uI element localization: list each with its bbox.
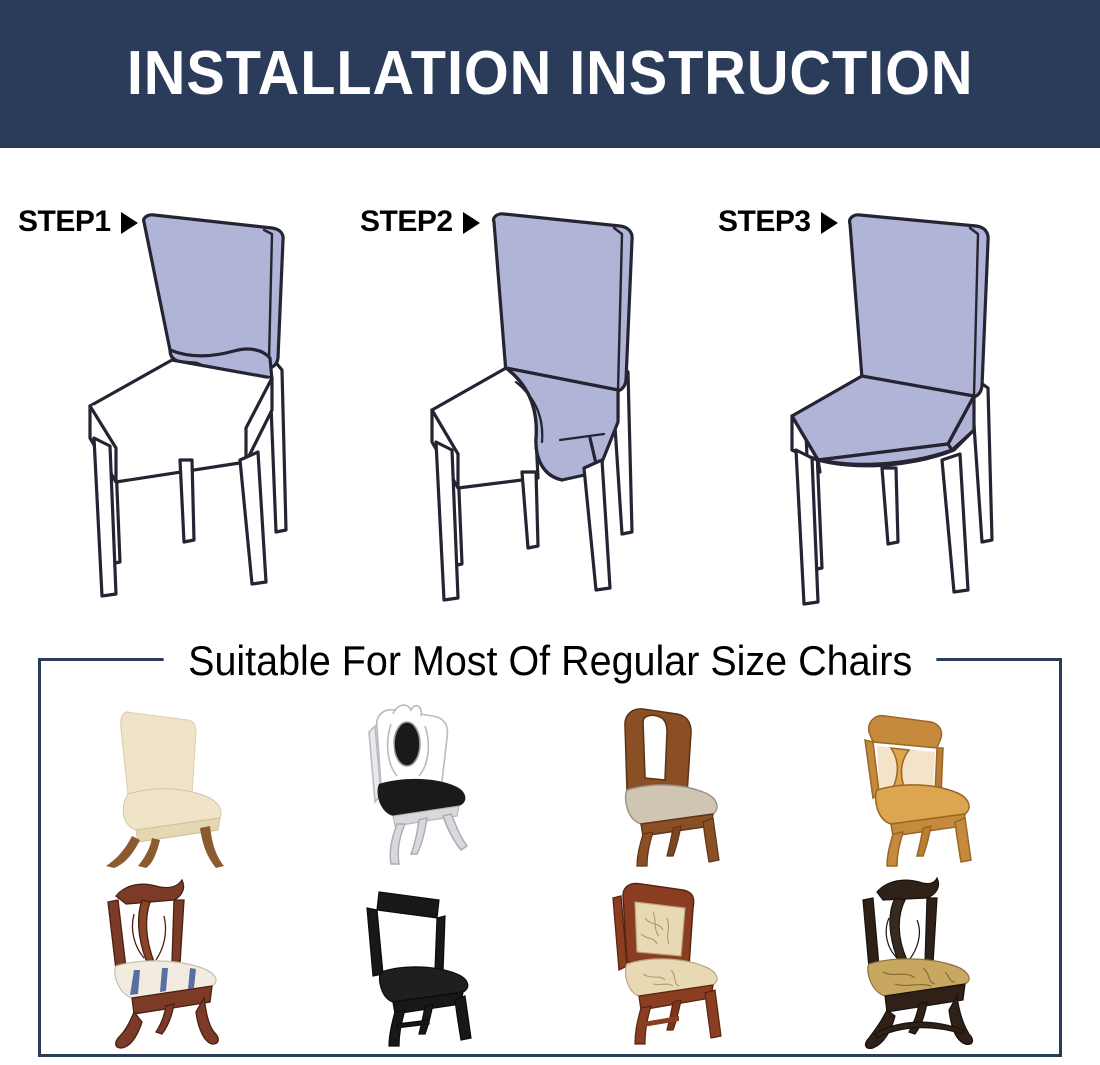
chair-photo-floral-upholstered-wood-chair (550, 870, 801, 1050)
chair-photo-honey-oak-splat-chair (801, 690, 1052, 870)
chair-photo-cream-upholstered-chair (48, 690, 299, 870)
page-title: INSTALLATION INSTRUCTION (127, 43, 974, 105)
step-2-chair-illustration (418, 210, 670, 615)
chair-photo-black-wood-chair (299, 870, 550, 1050)
step-panel-3: STEP3 (700, 148, 1040, 628)
step-1-chair-illustration (76, 210, 328, 615)
step-3-chair-illustration (776, 210, 1028, 615)
chair-photo-dark-wood-slot-back-chair (550, 690, 801, 870)
chair-photo-chippendale-mahogany-chair (48, 870, 299, 1050)
header-banner: INSTALLATION INSTRUCTION (0, 0, 1100, 148)
chair-photo-antique-carved-tapestry-chair (801, 870, 1052, 1050)
step-panel-1: STEP1 (0, 148, 340, 628)
suitable-chairs-grid (48, 690, 1052, 1050)
step-panel-2: STEP2 (342, 148, 682, 628)
steps-row: STEP1 (0, 148, 1100, 628)
chair-photo-silver-baroque-chair (299, 690, 550, 870)
installation-instruction-graphic: INSTALLATION INSTRUCTION STEP1 (0, 0, 1100, 1065)
